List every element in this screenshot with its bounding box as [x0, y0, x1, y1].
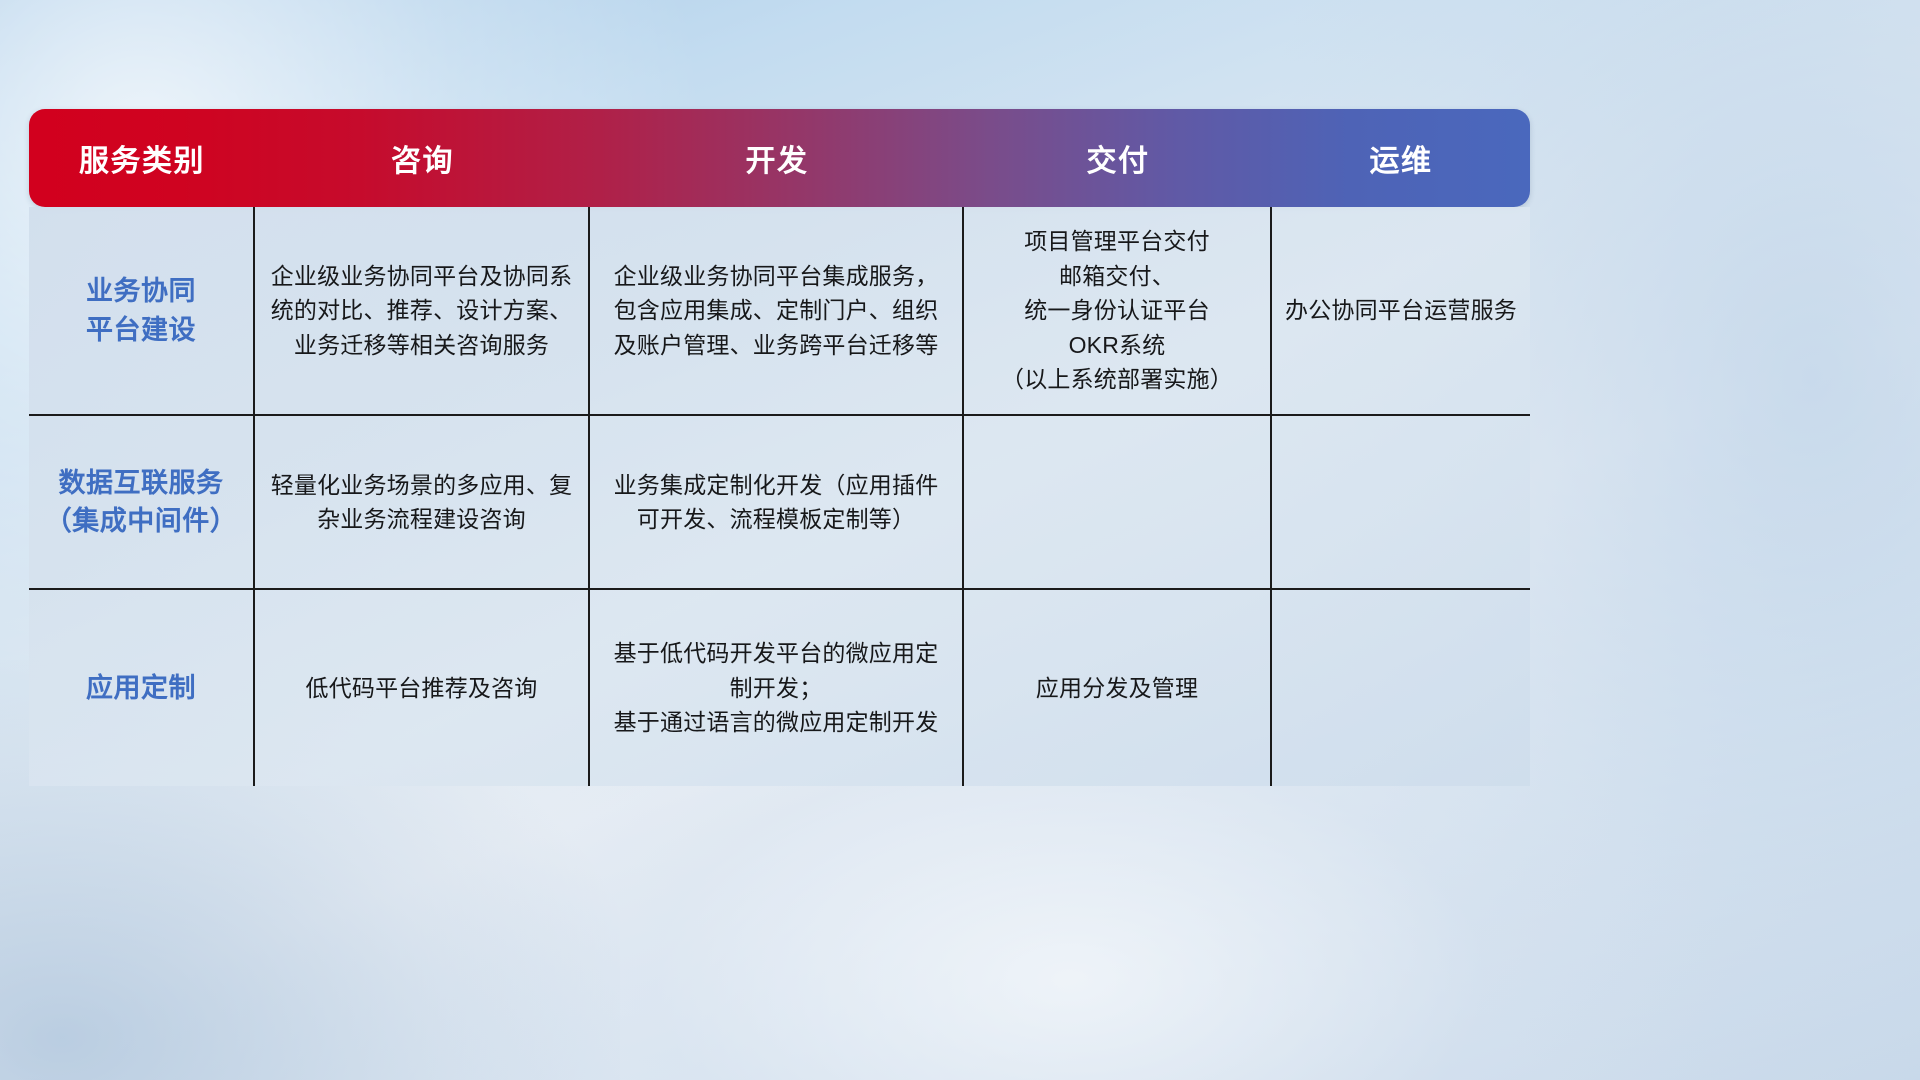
table-row: 应用定制 低代码平台推荐及咨询 基于低代码开发平台的微应用定 制开发； 基于通过… — [29, 590, 1530, 786]
header-cell-category: 服务类别 — [29, 136, 255, 180]
cell-consulting: 轻量化业务场景的多应用、复 杂业务流程建设咨询 — [255, 416, 590, 588]
header-cell-development: 开发 — [590, 136, 964, 180]
row-category-label: 应用定制 — [29, 590, 255, 786]
cell-development: 基于低代码开发平台的微应用定 制开发； 基于通过语言的微应用定制开发 — [590, 590, 964, 786]
table-body: 业务协同 平台建设 企业级业务协同平台及协同系 统的对比、推荐、设计方案、 业务… — [29, 207, 1530, 786]
cell-delivery: 应用分发及管理 — [964, 590, 1272, 786]
cell-operations — [1272, 416, 1530, 588]
header-cell-operations: 运维 — [1272, 136, 1530, 180]
cell-delivery: 项目管理平台交付 邮箱交付、 统一身份认证平台 OKR系统 （以上系统部署实施） — [964, 207, 1272, 414]
cell-delivery — [964, 416, 1272, 588]
table-header-row: 服务类别 咨询 开发 交付 运维 — [29, 109, 1530, 207]
table-row: 数据互联服务 （集成中间件） 轻量化业务场景的多应用、复 杂业务流程建设咨询 业… — [29, 416, 1530, 590]
cell-development: 业务集成定制化开发（应用插件 可开发、流程模板定制等） — [590, 416, 964, 588]
header-cell-delivery: 交付 — [964, 136, 1272, 180]
row-category-label: 业务协同 平台建设 — [29, 207, 255, 414]
cell-operations — [1272, 590, 1530, 786]
cell-operations: 办公协同平台运营服务 — [1272, 207, 1530, 414]
cell-consulting: 企业级业务协同平台及协同系 统的对比、推荐、设计方案、 业务迁移等相关咨询服务 — [255, 207, 590, 414]
service-matrix-table: 服务类别 咨询 开发 交付 运维 业务协同 平台建设 企业级业务协同平台及协同系… — [29, 109, 1530, 784]
header-cell-consulting: 咨询 — [255, 136, 590, 180]
table-row: 业务协同 平台建设 企业级业务协同平台及协同系 统的对比、推荐、设计方案、 业务… — [29, 207, 1530, 416]
cell-development: 企业级业务协同平台集成服务， 包含应用集成、定制门户、组织 及账户管理、业务跨平… — [590, 207, 964, 414]
cell-consulting: 低代码平台推荐及咨询 — [255, 590, 590, 786]
row-category-label: 数据互联服务 （集成中间件） — [29, 416, 255, 588]
